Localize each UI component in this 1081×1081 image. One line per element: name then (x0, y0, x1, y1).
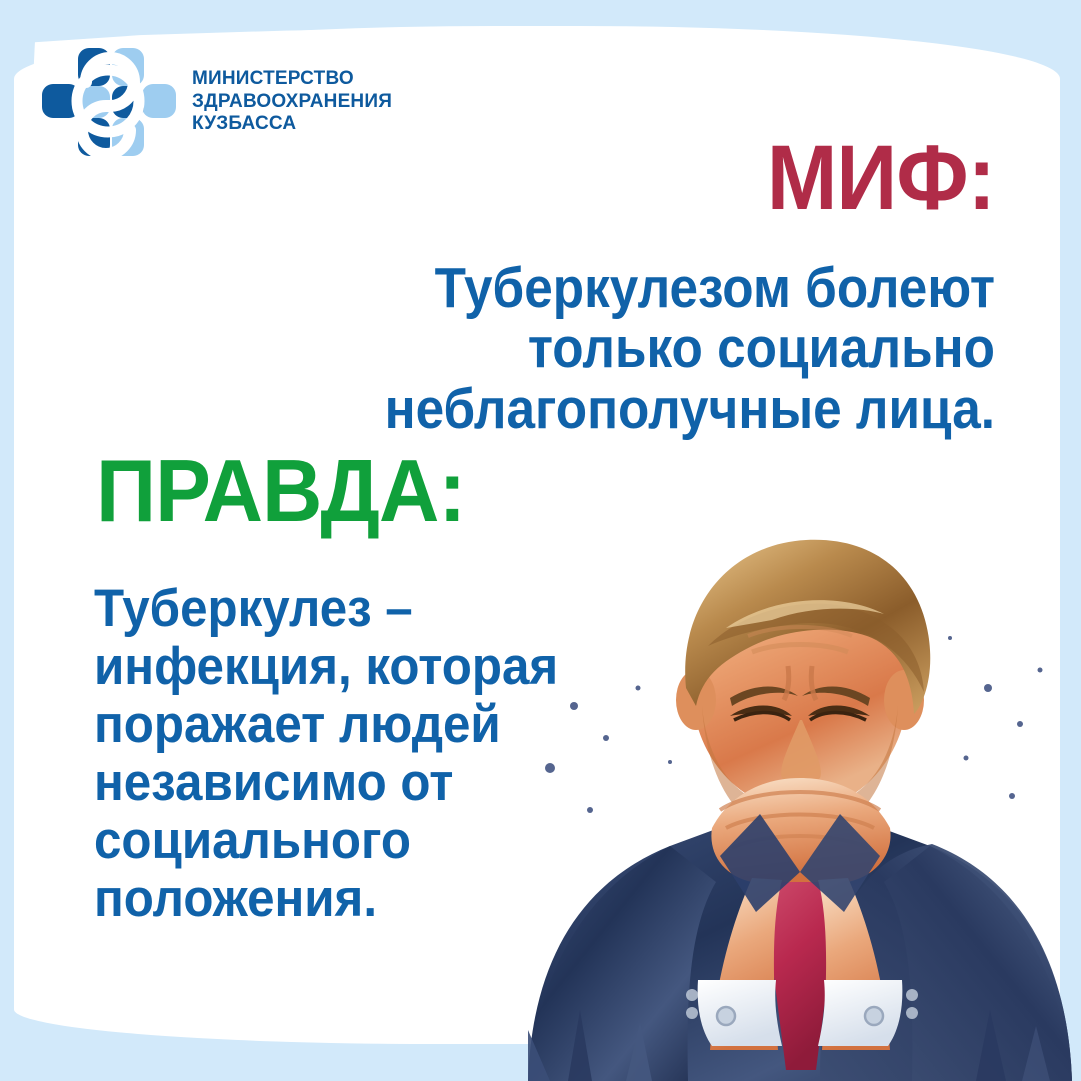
ministry-logo-text: МИНИСТЕРСТВО ЗДРАВООХРАНЕНИЯ КУЗБАССА (192, 68, 392, 135)
ministry-cross-icon (38, 42, 178, 162)
logo-line-3: КУЗБАССА (192, 113, 392, 135)
left-cuff (698, 980, 782, 1046)
myth-label: МИФ: (767, 136, 995, 221)
right-cuff (818, 980, 902, 1046)
ministry-logo: МИНИСТЕРСТВО ЗДРАВООХРАНЕНИЯ КУЗБАССА (38, 42, 392, 162)
logo-line-1: МИНИСТЕРСТВО (192, 68, 392, 90)
man-coughing-illustration (520, 510, 1081, 1081)
myth-body-text: Туберкулезом болеют только социально неб… (257, 258, 995, 439)
logo-line-2: ЗДРАВООХРАНЕНИЯ (192, 91, 392, 113)
poster-root: МИНИСТЕРСТВО ЗДРАВООХРАНЕНИЯ КУЗБАССА МИ… (0, 0, 1081, 1081)
truth-label: ПРАВДА: (96, 449, 465, 533)
